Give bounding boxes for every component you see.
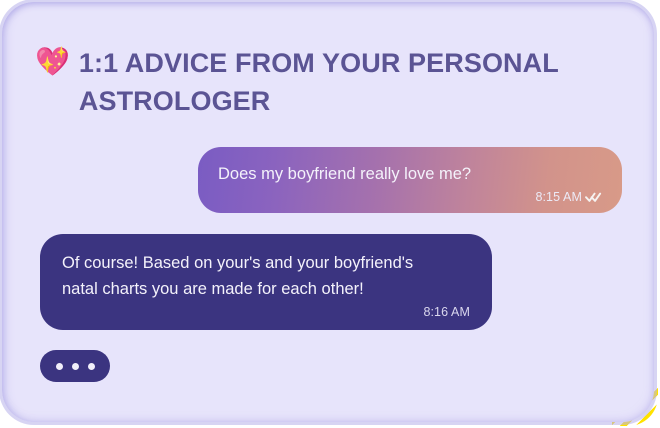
- page-title-text: 1:1 ADVICE FROM YOUR PERSONAL ASTROLOGER: [79, 44, 559, 120]
- typing-dot: [56, 363, 63, 370]
- screen-root: 💖 1:1 ADVICE FROM YOUR PERSONAL ASTROLOG…: [0, 0, 660, 428]
- chat-timestamp: 8:15 AM: [535, 189, 582, 205]
- chat-message-meta: 8:15 AM: [218, 189, 602, 205]
- chat-message-text: Does my boyfriend really love me?: [218, 161, 602, 187]
- chat-bubble-outgoing[interactable]: Does my boyfriend really love me? 8:15 A…: [198, 147, 622, 213]
- typing-dot: [72, 363, 79, 370]
- double-check-icon: [585, 191, 602, 203]
- advice-card: 💖 1:1 ADVICE FROM YOUR PERSONAL ASTROLOG…: [2, 2, 654, 422]
- chat-message-text: Of course! Based on your's and your boyf…: [62, 250, 470, 302]
- typing-indicator: [40, 350, 110, 382]
- chat-message-meta: 8:16 AM: [62, 304, 470, 320]
- chat-timestamp: 8:16 AM: [423, 304, 470, 320]
- sparkling-heart-icon: 💖: [35, 45, 70, 79]
- chat-bubble-incoming[interactable]: Of course! Based on your's and your boyf…: [40, 234, 492, 330]
- page-title: 💖 1:1 ADVICE FROM YOUR PERSONAL ASTROLOG…: [35, 44, 615, 120]
- typing-dot: [88, 363, 95, 370]
- chat-thread: Does my boyfriend really love me? 8:15 A…: [2, 142, 654, 412]
